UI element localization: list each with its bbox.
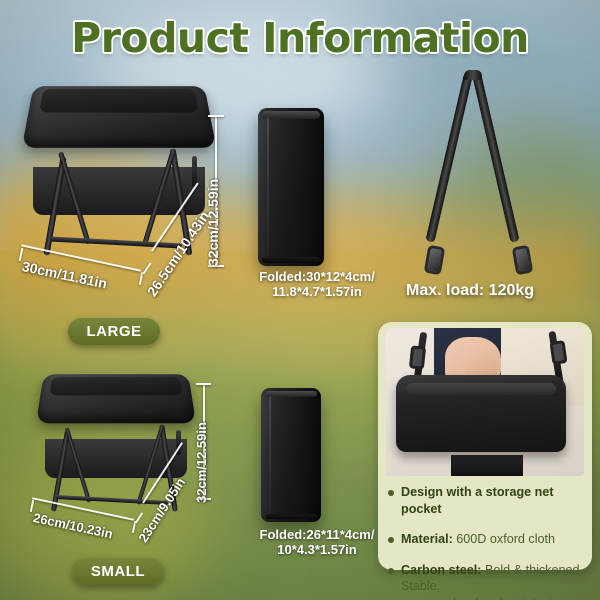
large-height-label: 32cm/12.59in bbox=[205, 179, 221, 266]
large-folded-caption: Folded:30*12*4cm/ 11.8*4.7*1.57in bbox=[237, 270, 397, 300]
feature-text-material: Material: 600D oxford cloth bbox=[401, 531, 555, 548]
product-infographic: Product Information 30cm/11.81in 26.5cm/… bbox=[0, 0, 600, 600]
large-stool-crossbar bbox=[50, 237, 182, 249]
feature-value-carbon-steel-line2: hard and resistant bbox=[453, 595, 584, 600]
small-stool-crossbar bbox=[56, 495, 168, 505]
strap-left-band bbox=[425, 73, 472, 243]
size-badge-small: SMALL bbox=[72, 558, 164, 585]
small-bag-seam bbox=[269, 396, 271, 514]
large-stool-seat-top bbox=[39, 89, 198, 112]
small-folded-caption: Folded:26*11*4cm/ 10*4.3*1.57in bbox=[237, 528, 397, 558]
photo-bag-flap bbox=[406, 383, 556, 395]
small-folded-line-1: Folded:26*11*4cm/ bbox=[237, 528, 397, 543]
large-folded-line-2: 11.8*4.7*1.57in bbox=[237, 285, 397, 300]
feature-list: Design with a storage net pocket Materia… bbox=[388, 484, 584, 600]
large-folded-bag-image bbox=[258, 108, 324, 266]
small-stool-seat-top bbox=[49, 377, 182, 396]
strap-clip-right bbox=[512, 245, 534, 276]
bullet-dot-icon bbox=[388, 537, 394, 543]
feature-item-net-pocket: Design with a storage net pocket bbox=[388, 484, 584, 517]
feature-label-net-pocket: Design with a storage net pocket bbox=[401, 485, 554, 516]
feature-text-carbon-steel: Carbon steel: Bold & thickened Stable, h… bbox=[401, 562, 584, 600]
feature-value-material: 600D oxford cloth bbox=[456, 532, 555, 546]
small-height-label: 32cm/12.59in bbox=[194, 422, 209, 503]
shoulder-strap-image bbox=[420, 70, 580, 270]
small-folded-bag-image bbox=[261, 388, 321, 522]
feature-label-carbon-steel: Carbon steel: bbox=[401, 563, 481, 577]
feature-text-net-pocket: Design with a storage net pocket bbox=[401, 484, 584, 517]
bullet-dot-icon bbox=[388, 568, 394, 574]
large-bag-seam bbox=[267, 117, 269, 256]
feature-label-material: Material: bbox=[401, 532, 453, 546]
size-badge-large: LARGE bbox=[68, 318, 160, 345]
small-stool-seat bbox=[36, 374, 196, 423]
small-folded-line-2: 10*4.3*1.57in bbox=[237, 543, 397, 558]
small-height-tick-top bbox=[196, 383, 211, 385]
strap-right-band bbox=[472, 73, 519, 243]
photo-shoulder-bag bbox=[396, 375, 566, 452]
page-title: Product Information bbox=[0, 14, 600, 62]
feature-item-material: Material: 600D oxford cloth bbox=[388, 531, 584, 548]
photo-clip-left bbox=[409, 345, 426, 369]
large-height-tick-top bbox=[208, 115, 224, 117]
feature-item-carbon-steel: Carbon steel: Bold & thickened Stable, h… bbox=[388, 562, 584, 600]
photo-stool-behind bbox=[451, 455, 522, 476]
strap-apex bbox=[464, 70, 482, 80]
max-load-label: Max. load: 120kg bbox=[406, 282, 534, 300]
lifestyle-photo bbox=[386, 328, 584, 476]
photo-clip-right bbox=[550, 340, 568, 365]
large-stool-seat bbox=[22, 86, 217, 148]
large-folded-line-1: Folded:30*12*4cm/ bbox=[237, 270, 397, 285]
bullet-dot-icon bbox=[388, 490, 394, 496]
features-card: Design with a storage net pocket Materia… bbox=[378, 322, 592, 570]
